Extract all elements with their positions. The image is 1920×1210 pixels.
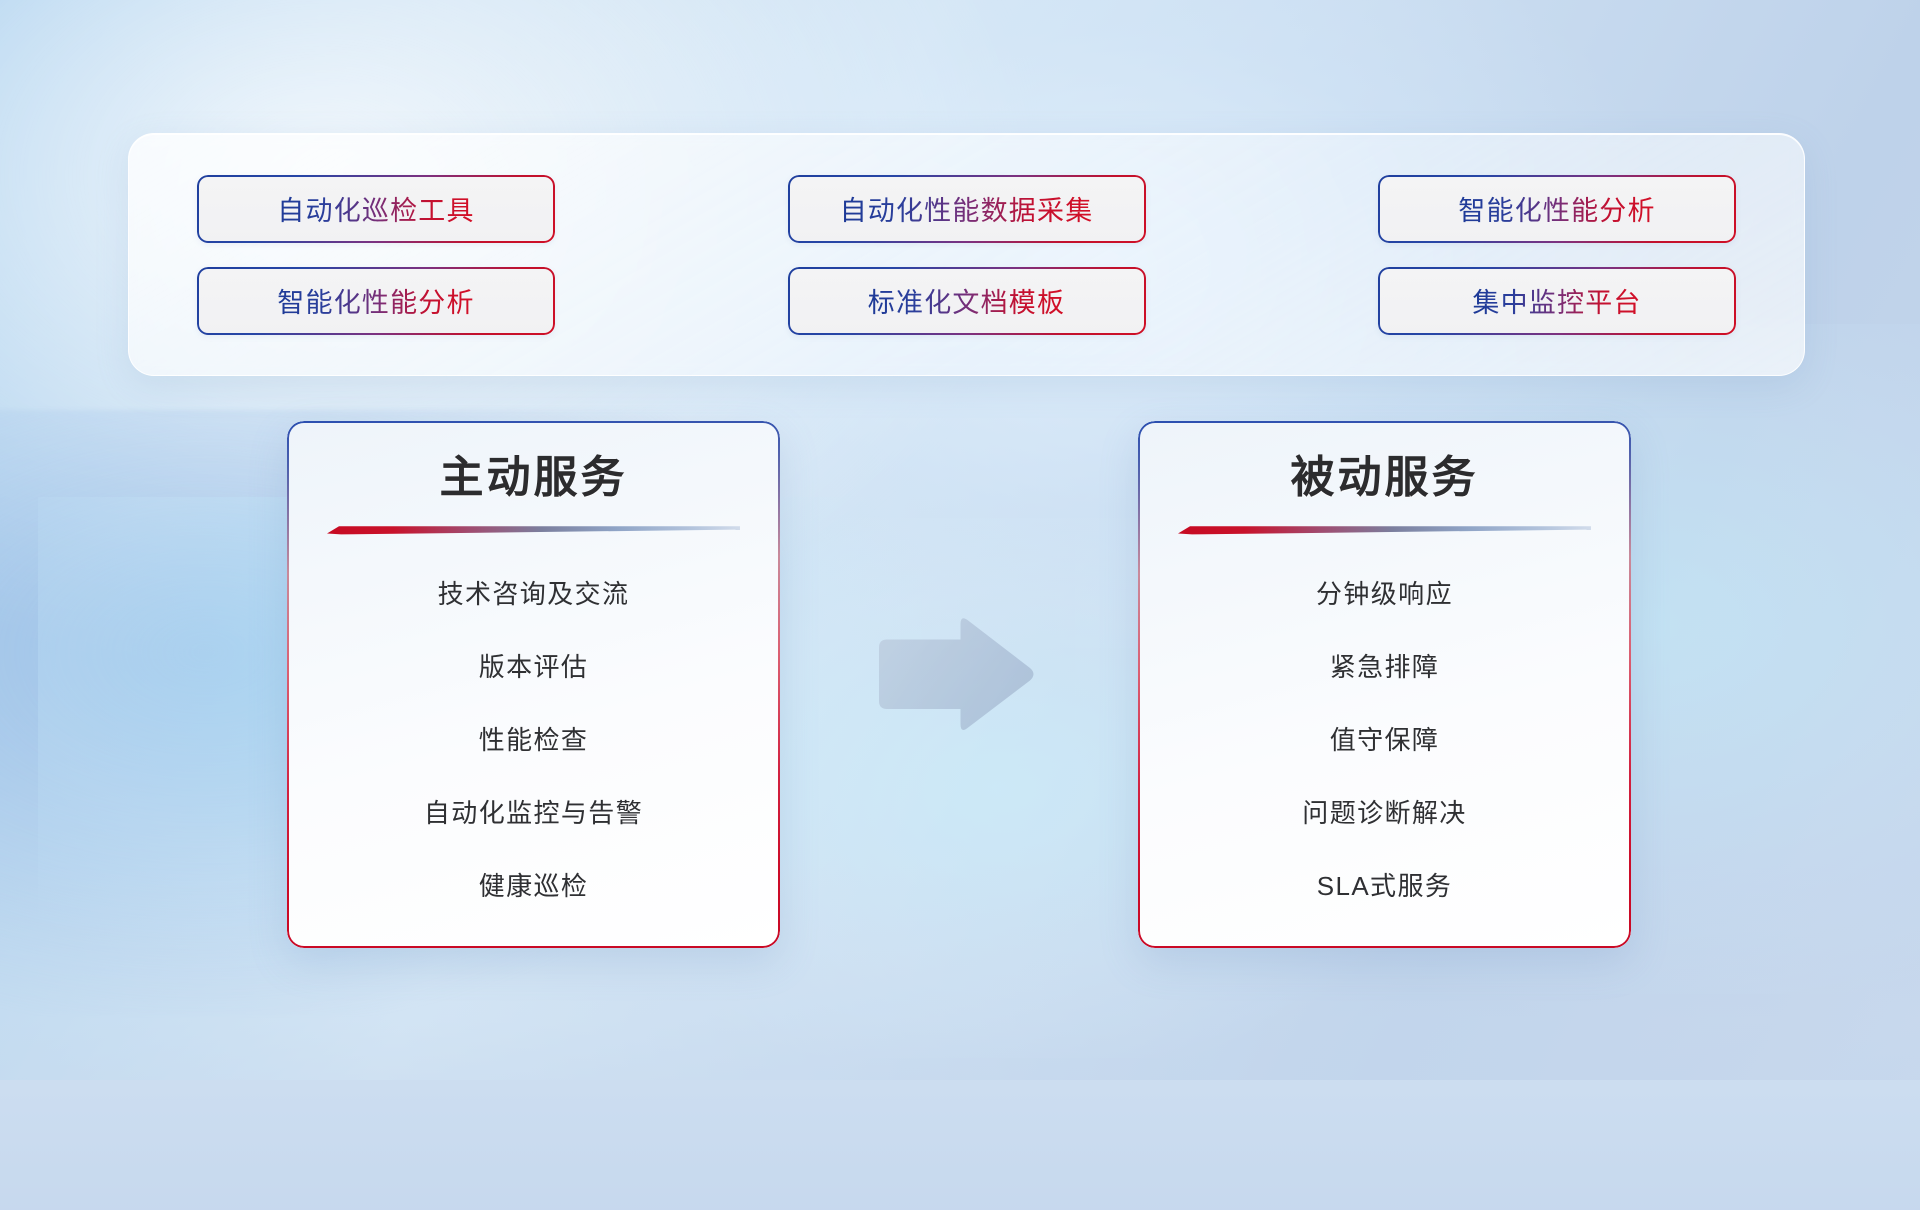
capability-tag-label: 自动化巡检工具: [277, 189, 474, 228]
capability-tag-row-2: 智能化性能分析 标准化文档模板 集中监控平台: [197, 267, 1736, 335]
list-item: 版本评估: [327, 640, 740, 694]
arrow-right-icon: [873, 614, 1038, 736]
card-passive-service-title: 被动服务: [1178, 451, 1591, 505]
list-item: 值守保障: [1178, 713, 1591, 767]
card-active-service-body: 主动服务 技术咨询及交流 版本评估: [287, 421, 780, 948]
capability-tag-label: 集中监控平台: [1472, 281, 1641, 320]
capability-tag-label: 自动化性能数据采集: [840, 189, 1094, 228]
capability-tag-standardized-doc-template[interactable]: 标准化文档模板: [788, 267, 1146, 335]
list-item: 自动化监控与告警: [327, 786, 740, 840]
card-active-service-divider: [327, 523, 740, 549]
list-item: SLA式服务: [1178, 859, 1591, 913]
list-item: 问题诊断解决: [1178, 786, 1591, 840]
card-passive-service: 被动服务 分钟级响应 紧急排障: [1138, 421, 1631, 948]
card-active-service-title: 主动服务: [327, 451, 740, 505]
capability-tag-automated-inspection-tool[interactable]: 自动化巡检工具: [197, 175, 555, 243]
card-passive-service-divider: [1178, 523, 1591, 549]
capability-tag-label: 智能化性能分析: [277, 281, 474, 320]
list-item: 技术咨询及交流: [327, 567, 740, 621]
capability-tags-panel: 自动化巡检工具 自动化性能数据采集 智能化性能分析 智能化性能分析 标准化文档模…: [128, 133, 1805, 376]
list-item: 健康巡检: [327, 859, 740, 913]
capability-tag-intelligent-performance-analysis[interactable]: 智能化性能分析: [1378, 175, 1736, 243]
capability-tag-row-1: 自动化巡检工具 自动化性能数据采集 智能化性能分析: [197, 175, 1736, 243]
list-item: 分钟级响应: [1178, 567, 1591, 621]
card-passive-service-body: 被动服务 分钟级响应 紧急排障: [1138, 421, 1631, 948]
list-item: 紧急排障: [1178, 640, 1591, 694]
card-passive-service-list: 分钟级响应 紧急排障 值守保障 问题诊断解决 SLA式服务: [1178, 567, 1591, 913]
capability-tag-label: 智能化性能分析: [1458, 189, 1655, 228]
capability-tag-automated-performance-data-collection[interactable]: 自动化性能数据采集: [788, 175, 1146, 243]
card-active-service-list: 技术咨询及交流 版本评估 性能检查 自动化监控与告警 健康巡检: [327, 567, 740, 913]
card-active-service: 主动服务 技术咨询及交流 版本评估: [287, 421, 780, 948]
capability-tag-intelligent-performance-analysis-2[interactable]: 智能化性能分析: [197, 267, 555, 335]
capability-tag-centralized-monitoring-platform[interactable]: 集中监控平台: [1378, 267, 1736, 335]
list-item: 性能检查: [327, 713, 740, 767]
capability-tag-label: 标准化文档模板: [868, 281, 1065, 320]
